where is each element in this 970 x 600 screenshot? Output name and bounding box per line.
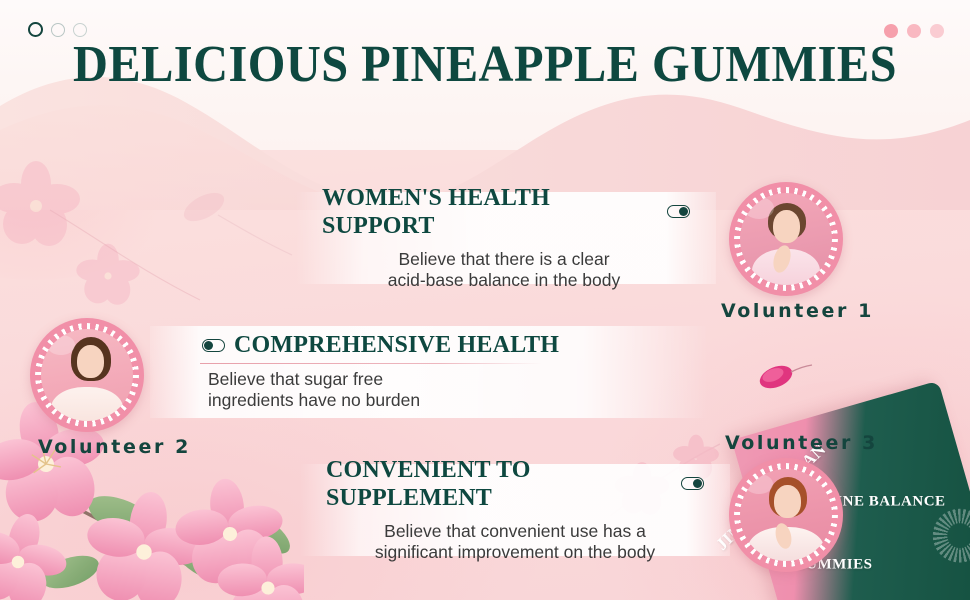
volunteer-avatar	[740, 469, 832, 561]
feature-heading-text: CONVENIENT TO SUPPLEMENT	[326, 456, 672, 512]
heading-divider	[200, 363, 542, 364]
feature-heading-row: WOMEN'S HEALTH SUPPORT	[322, 184, 690, 240]
volunteer-label: Volunteer 1	[721, 300, 874, 322]
portrait-face	[77, 345, 104, 378]
feature-heading-text: COMPREHENSIVE HEALTH	[234, 331, 559, 359]
volunteer-photo-ring	[729, 458, 843, 572]
portrait-face	[773, 210, 800, 243]
feature-card-convenient-to-supplement: CONVENIENT TO SUPPLEMENT Believe that co…	[300, 464, 730, 556]
feature-subtitle-line-1: Believe that convenient use has a	[326, 521, 704, 542]
volunteer-photo-ring	[30, 318, 144, 432]
portrait-torso	[51, 387, 123, 421]
volunteer-avatar	[740, 193, 832, 285]
promo-banner: JINGGANGSHAN FEMININE BALANCE GUMMIES DE…	[0, 0, 970, 600]
feature-card-comprehensive-health: COMPREHENSIVE HEALTH Believe that sugar …	[150, 326, 708, 418]
page-title: DELICIOUS PINEAPPLE GUMMIES	[34, 36, 936, 94]
feature-heading-text: WOMEN'S HEALTH SUPPORT	[322, 184, 658, 240]
feature-subtitle-line-1: Believe that there is a clear	[322, 249, 686, 270]
feature-subtitle: Believe that there is a clear acid-base …	[322, 249, 690, 291]
indicator-dot-active[interactable]	[28, 22, 43, 37]
volunteer-badge-2: Volunteer 2	[30, 318, 191, 458]
feature-heading-row: COMPREHENSIVE HEALTH	[176, 331, 682, 359]
volunteer-label: Volunteer 3	[725, 432, 878, 454]
volunteer-badge-1: Volunteer 1	[729, 182, 874, 322]
indicator-dot-3[interactable]	[73, 23, 87, 37]
volunteer-label: Volunteer 2	[38, 436, 191, 458]
portrait-highlight	[745, 474, 773, 494]
feature-subtitle-line-1: Believe that sugar free	[208, 369, 682, 390]
feature-heading-row: CONVENIENT TO SUPPLEMENT	[326, 456, 704, 512]
volunteer-badge-3: Volunteer 3	[729, 432, 878, 572]
feature-subtitle-line-2: acid-base balance in the body	[322, 270, 686, 291]
portrait-face	[774, 485, 801, 518]
feature-card-womens-health-support: WOMEN'S HEALTH SUPPORT Believe that ther…	[296, 192, 716, 284]
volunteer-avatar	[41, 329, 133, 421]
feature-subtitle-line-2: significant improvement on the body	[326, 542, 704, 563]
toggle-pill-icon	[667, 205, 690, 218]
portrait-highlight	[47, 335, 75, 355]
feature-subtitle: Believe that convenient use has a signif…	[326, 521, 704, 563]
pouch-seal-graphic	[926, 502, 970, 569]
feature-subtitle: Believe that sugar free ingredients have…	[176, 369, 682, 411]
single-petal-decor	[170, 185, 300, 265]
toggle-pill-icon	[681, 477, 704, 490]
portrait-highlight	[744, 197, 774, 219]
indicator-dot-2[interactable]	[51, 23, 65, 37]
feature-subtitle-line-2: ingredients have no burden	[208, 390, 682, 411]
slide-indicator-dots[interactable]	[28, 22, 87, 37]
volunteer-photo-ring	[729, 182, 843, 296]
toggle-pill-icon	[202, 339, 225, 352]
